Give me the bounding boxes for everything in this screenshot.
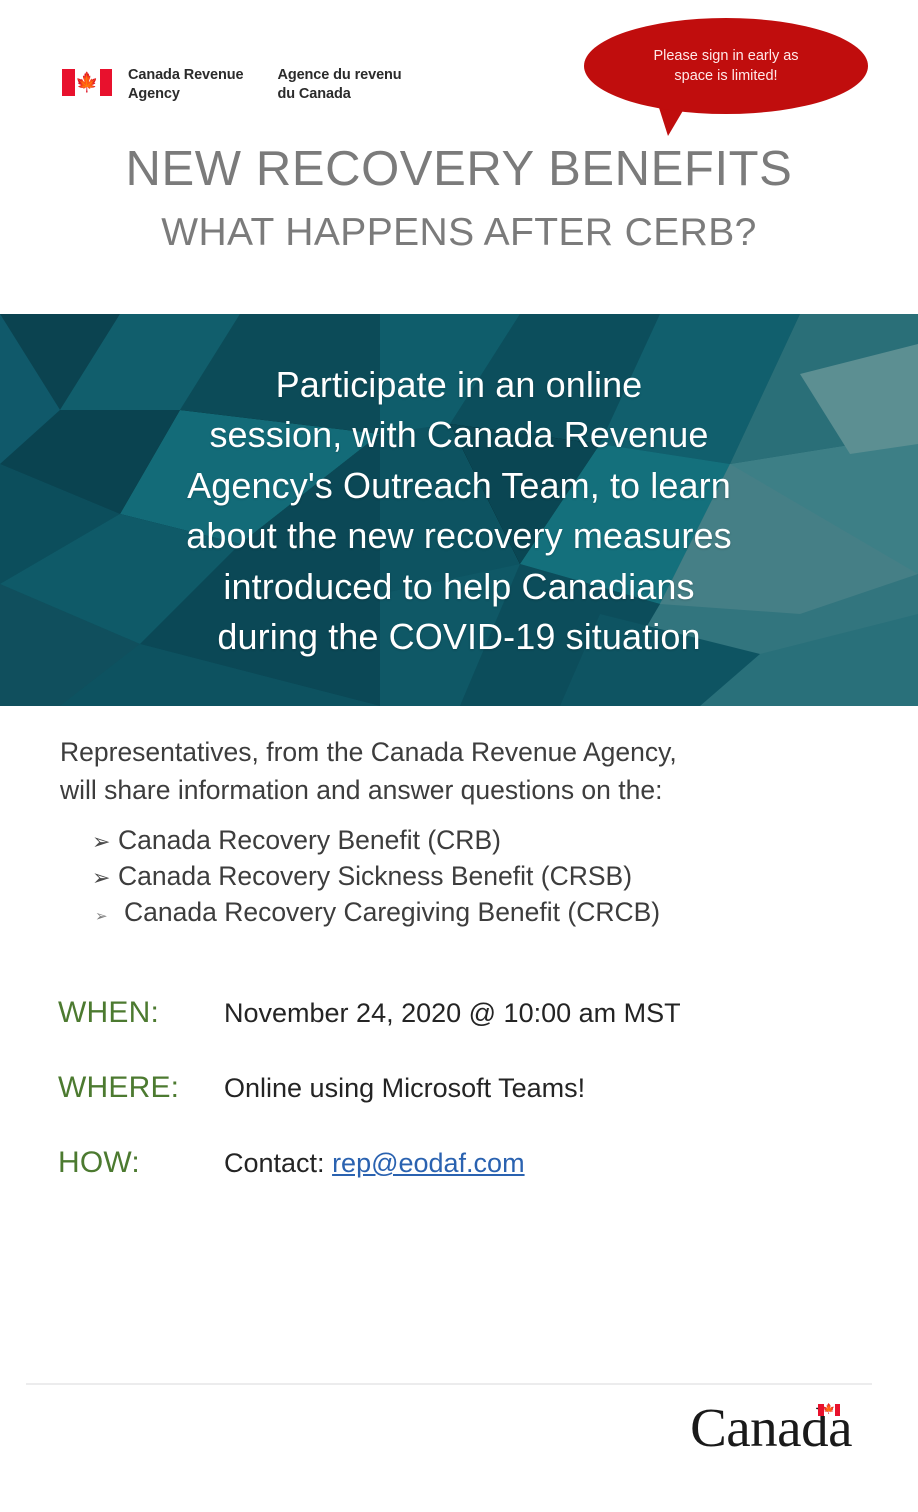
how-label: HOW: (58, 1146, 224, 1180)
intro-paragraph: Representatives, from the Canada Revenue… (60, 734, 860, 809)
arrow-bullet-icon: ➢ (92, 827, 118, 857)
callout-text: Please sign in early as space is limited… (613, 46, 838, 86)
when-label: WHEN: (58, 996, 224, 1030)
detail-row-how: HOW: Contact: rep@eodaf.com (58, 1146, 858, 1180)
list-item-label: Canada Recovery Sickness Benefit (CRSB) (118, 858, 632, 894)
contact-prefix: Contact: (224, 1148, 332, 1178)
canada-flag-icon: 🍁 (62, 69, 112, 96)
list-item: ➢ Canada Recovery Caregiving Benefit (CR… (92, 894, 852, 930)
list-item-label: Canada Recovery Benefit (CRB) (118, 822, 501, 858)
canada-flag-icon: 🍁 (818, 1404, 840, 1416)
contact-email-link[interactable]: rep@eodaf.com (332, 1148, 525, 1178)
how-value: Contact: rep@eodaf.com (224, 1148, 525, 1179)
list-item: ➢ Canada Recovery Benefit (CRB) (92, 822, 852, 858)
hero-banner: Participate in an online session, with C… (0, 314, 918, 706)
where-label: WHERE: (58, 1071, 224, 1105)
page-title: NEW RECOVERY BENEFITS (0, 144, 918, 196)
flag-bar-right (835, 1404, 841, 1416)
poster-page: 🍁 Canada Revenue Agency Agence du revenu… (0, 0, 918, 1512)
banner-message: Participate in an online session, with C… (0, 360, 918, 662)
detail-row-where: WHERE: Online using Microsoft Teams! (58, 1071, 858, 1105)
signin-callout-bubble: Please sign in early as space is limited… (584, 18, 868, 114)
footer-divider (26, 1383, 872, 1385)
callout-body: Please sign in early as space is limited… (584, 18, 868, 114)
page-subtitle: WHAT HAPPENS AFTER CERB? (0, 212, 918, 254)
agency-name-en: Canada Revenue Agency (128, 66, 243, 103)
flag-bar-left (62, 69, 75, 96)
maple-leaf-icon: 🍁 (823, 1405, 835, 1415)
cra-signature: 🍁 Canada Revenue Agency Agence du revenu… (62, 66, 402, 103)
arrow-bullet-icon: ➢ (92, 907, 118, 927)
list-item: ➢ Canada Recovery Sickness Benefit (CRSB… (92, 858, 852, 894)
maple-leaf-icon: 🍁 (75, 73, 99, 92)
list-item-label: Canada Recovery Caregiving Benefit (CRCB… (118, 894, 660, 930)
when-value: November 24, 2020 @ 10:00 am MST (224, 998, 681, 1029)
signature-text: Canada Revenue Agency Agence du revenu d… (128, 66, 402, 103)
canada-wordmark: Canada 🍁 (690, 1400, 840, 1455)
event-details: WHEN: November 24, 2020 @ 10:00 am MST W… (58, 996, 858, 1221)
benefits-list: ➢ Canada Recovery Benefit (CRB) ➢ Canada… (92, 822, 852, 930)
where-value: Online using Microsoft Teams! (224, 1073, 585, 1104)
agency-name-fr: Agence du revenu du Canada (277, 66, 401, 103)
detail-row-when: WHEN: November 24, 2020 @ 10:00 am MST (58, 996, 858, 1030)
flag-bar-right (100, 69, 113, 96)
arrow-bullet-icon: ➢ (92, 863, 118, 893)
